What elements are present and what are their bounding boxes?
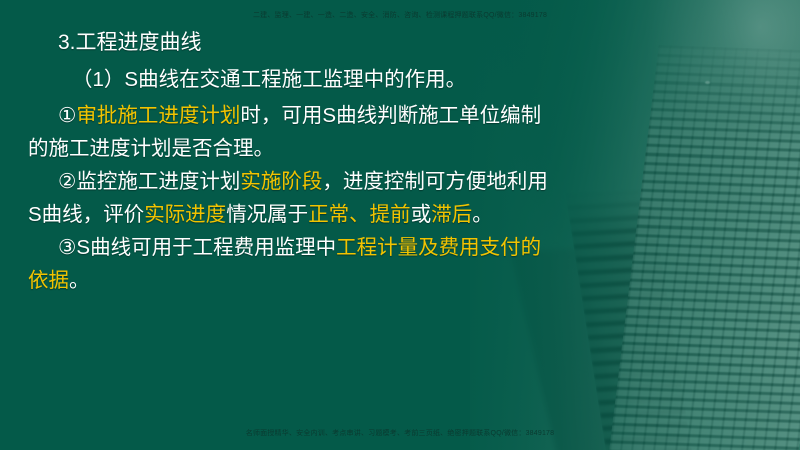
point-1-marker: ① <box>58 104 76 127</box>
point-2-line-2-text-a: S曲线，评价 <box>28 203 144 226</box>
point-2-line-2-highlight-normal-ahead: 正常、提前 <box>308 203 411 226</box>
point-2-highlight: 实施阶段 <box>240 170 322 193</box>
skyscraper-tower <box>606 45 800 450</box>
bottom-promo-banner: 名师面授精华、安全内训、考点串讲、习题模考、考前三页纸、绝密押题联系QQ/微信：… <box>0 429 800 439</box>
point-1-text: 时，可用S曲线判断施工单位编制 <box>240 104 541 127</box>
slide-heading-text: 3.工程进度曲线 <box>58 31 202 54</box>
point-2-line-2-text-g: 。 <box>472 203 493 226</box>
presentation-slide: 二建、监理、一建、一造、二造、安全、消防、咨询、检测课程押题联系QQ/微信：38… <box>0 0 800 450</box>
point-3-line-2-tail: 。 <box>69 269 90 292</box>
point-1-line-2-text: 的施工进度计划是否合理。 <box>28 137 274 160</box>
point-1-line-2: 的施工进度计划是否合理。 <box>0 132 620 165</box>
point-2-text-c: ，进度控制可方便地利用 <box>322 170 548 193</box>
point-2-marker: ② <box>58 170 76 193</box>
point-2-line-2: S曲线，评价实际进度情况属于正常、提前或滞后。 <box>0 198 620 231</box>
lens-speck <box>705 81 710 84</box>
slide-content: 3.工程进度曲线 （1）S曲线在交通工程施工监理中的作用。 ①审批施工进度计划时… <box>0 0 620 297</box>
point-3-line-2-highlight: 依据 <box>28 269 69 292</box>
point-2-line-2-highlight-actual-progress: 实际进度 <box>144 203 226 226</box>
slide-heading: 3.工程进度曲线 <box>0 26 620 59</box>
point-3-highlight: 工程计量及费用支付的 <box>336 236 541 259</box>
slide-subheading: （1）S曲线在交通工程施工监理中的作用。 <box>0 63 620 96</box>
point-2-line-2-text-c: 情况属于 <box>226 203 308 226</box>
point-1-highlight: 审批施工进度计划 <box>76 104 240 127</box>
point-2-line-2-text-e: 或 <box>411 203 432 226</box>
slide-subheading-text: （1）S曲线在交通工程施工监理中的作用。 <box>72 68 466 91</box>
point-3-line-1: ③S曲线可用于工程费用监理中工程计量及费用支付的 <box>0 231 620 264</box>
point-2-text-a: 监控施工进度计划 <box>76 170 240 193</box>
point-3-line-2: 依据。 <box>0 264 620 297</box>
point-2-line-1: ②监控施工进度计划实施阶段，进度控制可方便地利用 <box>0 165 620 198</box>
point-1-line-1: ①审批施工进度计划时，可用S曲线判断施工单位编制 <box>0 99 620 132</box>
point-2-line-2-highlight-delayed: 滞后 <box>431 203 472 226</box>
point-3-marker: ③ <box>58 236 76 259</box>
point-3-text-a: S曲线可用于工程费用监理中 <box>76 236 336 259</box>
